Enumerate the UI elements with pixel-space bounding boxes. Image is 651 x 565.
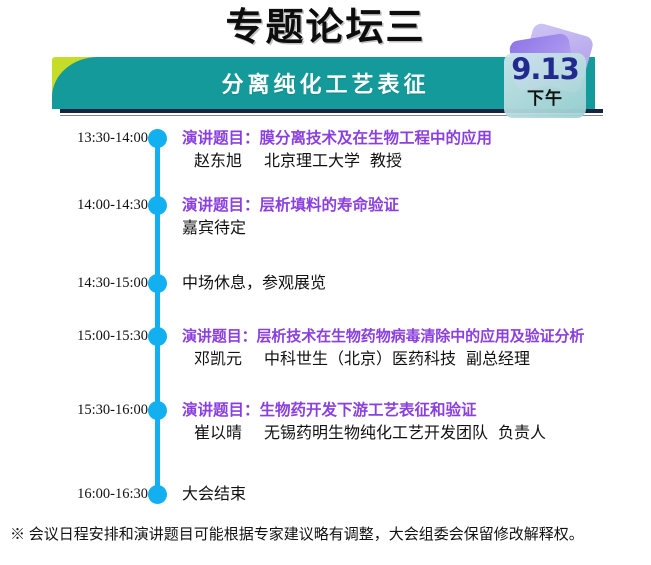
agenda-body: 大会结束 bbox=[182, 484, 647, 506]
footnote: ※ 会议日程安排和演讲题目可能根据专家建议略有调整，大会组委会保留修改解释权。 bbox=[10, 524, 650, 546]
agenda-title: 演讲题目：生物药开发下游工艺表征和验证 bbox=[182, 400, 647, 422]
agenda-speaker: 赵东旭北京理工大学教授 bbox=[182, 150, 647, 174]
timeline-dot-icon bbox=[148, 327, 167, 346]
speaker-name: 崔以晴 bbox=[194, 425, 242, 442]
agenda-title: 演讲题目：膜分离技术及在生物工程中的应用 bbox=[182, 128, 647, 150]
agenda-plain-text: 中场休息，参观展览 bbox=[182, 273, 647, 295]
agenda-body: 中场休息，参观展览 bbox=[182, 273, 647, 295]
agenda-time: 15:00-15:30 bbox=[20, 326, 148, 346]
timeline-dot-icon bbox=[148, 196, 167, 215]
agenda-speaker: 嘉宾待定 bbox=[182, 217, 647, 241]
speaker-name: 邓凯元 bbox=[194, 351, 242, 368]
timeline-dot-icon bbox=[148, 485, 167, 504]
timeline-line bbox=[155, 136, 160, 492]
speaker-name: 赵东旭 bbox=[194, 153, 242, 170]
speaker-role: 负责人 bbox=[498, 425, 546, 442]
agenda-title: 演讲题目：层析技术在生物药物病毒清除中的应用及验证分析 bbox=[182, 326, 647, 348]
agenda-body: 演讲题目：层析技术在生物药物病毒清除中的应用及验证分析 邓凯元中科世生（北京）医… bbox=[182, 326, 647, 372]
timeline-dot-icon bbox=[148, 401, 167, 420]
agenda-time: 16:00-16:30 bbox=[20, 484, 148, 504]
date-number: 9.13 bbox=[504, 53, 586, 85]
speaker-org: 北京理工大学 bbox=[264, 153, 360, 170]
date-period: 下午 bbox=[504, 89, 586, 109]
speaker-role: 教授 bbox=[370, 153, 402, 170]
agenda-timeline: 13:30-14:00 演讲题目：膜分离技术及在生物工程中的应用 赵东旭北京理工… bbox=[0, 128, 651, 508]
agenda-plain-text: 大会结束 bbox=[182, 484, 647, 506]
agenda-time: 13:30-14:00 bbox=[20, 128, 148, 148]
speaker-role: 副总经理 bbox=[466, 351, 530, 368]
timeline-dot-icon bbox=[148, 129, 167, 148]
agenda-time: 15:30-16:00 bbox=[20, 400, 148, 420]
agenda-time: 14:00-14:30 bbox=[20, 195, 148, 215]
agenda-speaker: 崔以晴无锡药明生物纯化工艺开发团队负责人 bbox=[182, 422, 647, 446]
agenda-body: 演讲题目：生物药开发下游工艺表征和验证 崔以晴无锡药明生物纯化工艺开发团队负责人 bbox=[182, 400, 647, 446]
agenda-title: 演讲题目：层析填料的寿命验证 bbox=[182, 195, 647, 217]
agenda-body: 演讲题目：层析填料的寿命验证 嘉宾待定 bbox=[182, 195, 647, 241]
agenda-time: 14:30-15:00 bbox=[20, 273, 148, 293]
agenda-speaker: 邓凯元中科世生（北京）医药科技副总经理 bbox=[182, 348, 647, 372]
date-badge: 9.13 下午 bbox=[498, 27, 608, 119]
timeline-dot-icon bbox=[148, 274, 167, 293]
speaker-org: 无锡药明生物纯化工艺开发团队 bbox=[264, 425, 488, 442]
agenda-body: 演讲题目：膜分离技术及在生物工程中的应用 赵东旭北京理工大学教授 bbox=[182, 128, 647, 174]
speaker-org: 中科世生（北京）医药科技 bbox=[264, 351, 456, 368]
